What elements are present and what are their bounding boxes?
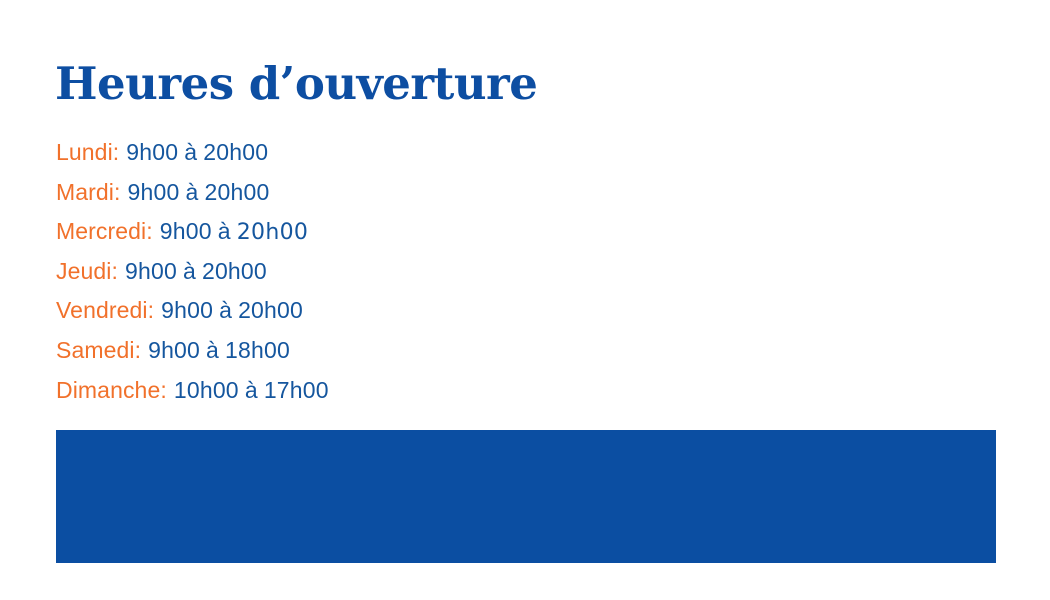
closing-time: 18h00 xyxy=(225,337,290,363)
time-range: 9h00à20h00 xyxy=(128,179,270,205)
time-separator: à xyxy=(213,297,238,323)
hours-row: Vendredi:9h00à20h00 xyxy=(56,291,656,331)
page-title: Heures d’ouverture xyxy=(55,58,537,110)
day-label: Dimanche: xyxy=(56,377,167,403)
time-separator: à xyxy=(200,337,225,363)
closing-time: 20h00 xyxy=(204,179,269,205)
time-range: 9h00à20h00 xyxy=(125,258,267,284)
time-separator: à xyxy=(212,218,237,244)
day-label: Jeudi: xyxy=(56,258,118,284)
day-label: Mardi: xyxy=(56,179,121,205)
hours-row: Samedi:9h00à18h00 xyxy=(56,331,656,371)
closing-time: 20h00 xyxy=(203,139,268,165)
time-range: 9h00à20h00 xyxy=(126,139,268,165)
time-separator: à xyxy=(178,139,203,165)
day-label: Vendredi: xyxy=(56,297,154,323)
opening-time: 9h00 xyxy=(128,179,180,205)
closing-time: 20h00 xyxy=(202,258,267,284)
time-range: 9h00à18h00 xyxy=(148,337,290,363)
time-range: 9h00à20h00 xyxy=(161,297,303,323)
opening-time: 9h00 xyxy=(125,258,177,284)
opening-time: 9h00 xyxy=(160,218,212,244)
opening-time: 10h00 xyxy=(174,377,239,403)
opening-time: 9h00 xyxy=(161,297,213,323)
blue-content-band xyxy=(56,430,996,563)
time-range: 10h00à17h00 xyxy=(174,377,329,403)
hours-row: Lundi:9h00à20h00 xyxy=(56,133,656,173)
closing-time: 17h00 xyxy=(264,377,329,403)
time-separator: à xyxy=(239,377,264,403)
hours-row: Mardi:9h00à20h00 xyxy=(56,173,656,213)
hours-row: Dimanche:10h00à17h00 xyxy=(56,371,656,411)
opening-time: 9h00 xyxy=(126,139,178,165)
time-range: 9h00à20h00 xyxy=(160,218,308,244)
opening-hours-list: Lundi:9h00à20h00 Mardi:9h00à20h00 Mercre… xyxy=(56,133,656,410)
time-separator: à xyxy=(177,258,202,284)
day-label: Samedi: xyxy=(56,337,141,363)
closing-time: 20h00 xyxy=(237,220,308,245)
day-label: Mercredi: xyxy=(56,218,153,244)
hours-row: Jeudi:9h00à20h00 xyxy=(56,252,656,292)
day-label: Lundi: xyxy=(56,139,119,165)
opening-time: 9h00 xyxy=(148,337,200,363)
hours-row: Mercredi:9h00à20h00 xyxy=(56,212,656,252)
time-separator: à xyxy=(179,179,204,205)
closing-time: 20h00 xyxy=(238,297,303,323)
opening-hours-slide: Heures d’ouverture Lundi:9h00à20h00 Mard… xyxy=(0,0,1050,600)
